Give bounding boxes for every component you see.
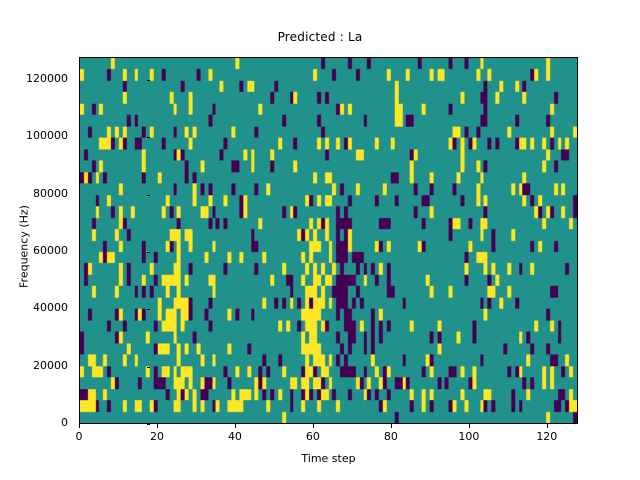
y-tick-label: 0 [61, 416, 68, 429]
x-tick-mark [79, 424, 80, 428]
y-tick-label: 120000 [26, 72, 68, 85]
y-tick-mark [147, 80, 151, 81]
x-tick-label: 60 [283, 430, 343, 443]
y-tick-mark [147, 252, 151, 253]
y-tick-mark [147, 195, 151, 196]
x-tick-mark [235, 424, 236, 428]
y-tick-label: 80000 [33, 187, 68, 200]
y-axis-label: Frequency (Hz) [18, 147, 31, 347]
x-tick-mark [469, 424, 470, 428]
x-tick-label: 40 [205, 430, 265, 443]
x-tick-label: 0 [49, 430, 109, 443]
y-tick-label: 40000 [33, 301, 68, 314]
y-tick-mark [147, 137, 151, 138]
y-tick-mark [147, 367, 151, 368]
matplotlib-figure: Predicted : La 0200004000060000800001000… [0, 0, 640, 480]
y-tick-mark [147, 424, 151, 425]
page-title: Predicted : La [0, 30, 640, 44]
y-tick-label: 60000 [33, 244, 68, 257]
y-tick-label: 100000 [26, 129, 68, 142]
x-tick-mark [391, 424, 392, 428]
x-tick-label: 80 [361, 430, 421, 443]
y-tick-label: 20000 [33, 359, 68, 372]
x-tick-label: 120 [517, 430, 577, 443]
x-tick-mark [547, 424, 548, 428]
x-axis-label: Time step [79, 452, 578, 465]
x-tick-label: 100 [439, 430, 499, 443]
heatmap-axes [79, 57, 578, 424]
x-tick-mark [157, 424, 158, 428]
heatmap-canvas [80, 58, 577, 423]
x-tick-mark [313, 424, 314, 428]
y-tick-mark [147, 309, 151, 310]
x-tick-label: 20 [127, 430, 187, 443]
